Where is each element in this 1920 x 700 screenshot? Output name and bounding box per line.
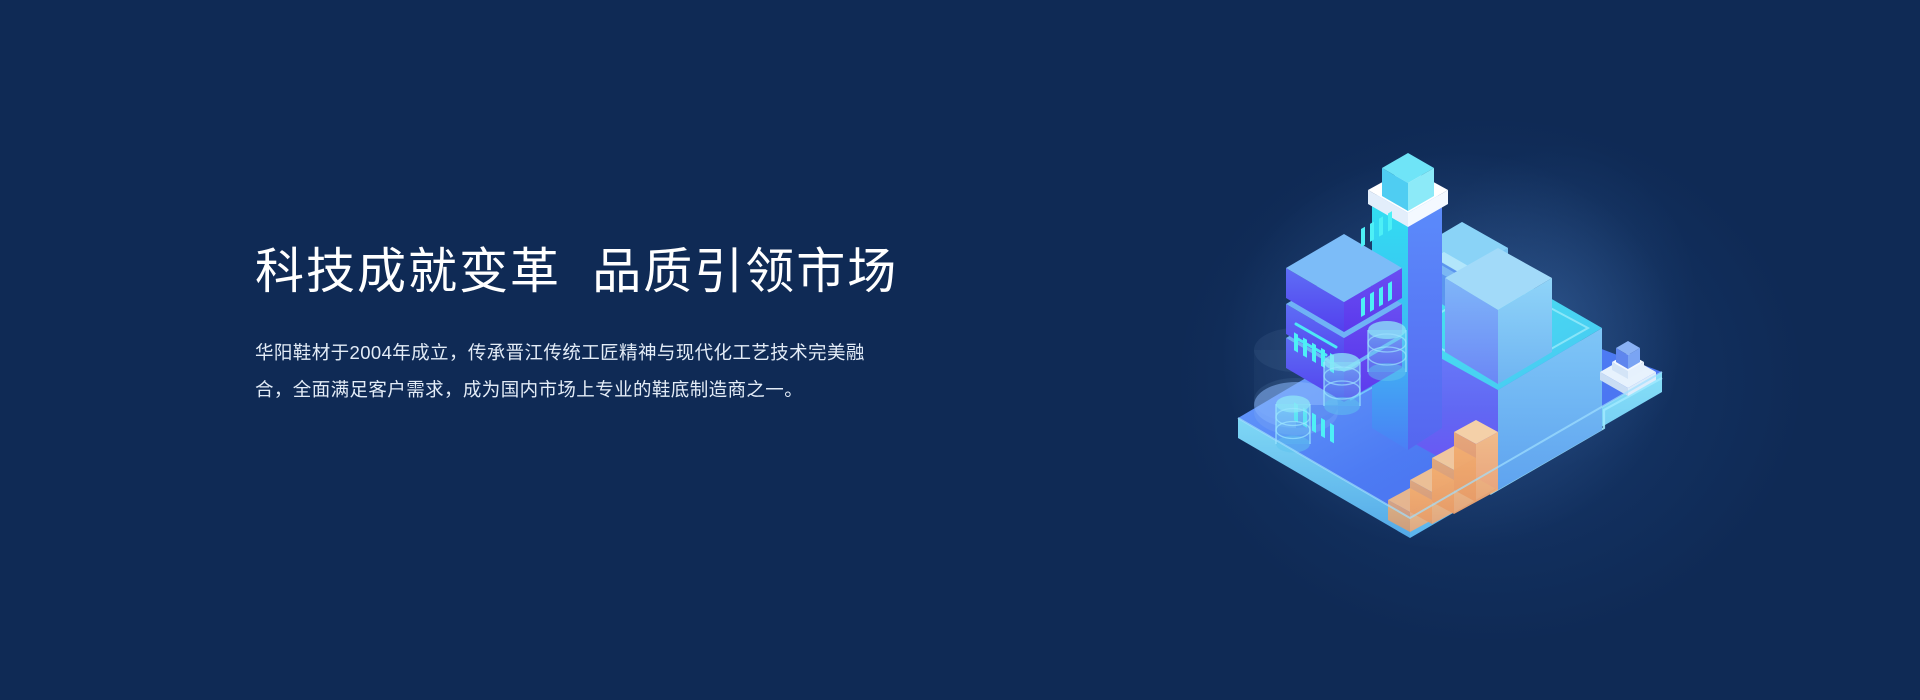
hero-text-block: 科技成就变革 品质引领市场 华阳鞋材于2004年成立，传承晋江传统工匠精神与现代… [255,245,955,408]
isometric-factory-illustration [1200,100,1700,550]
hero-description: 华阳鞋材于2004年成立，传承晋江传统工匠精神与现代化工艺技术完美融合，全面满足… [255,334,875,408]
page-title: 科技成就变革 品质引领市场 [255,245,955,300]
hero-banner: 科技成就变革 品质引领市场 华阳鞋材于2004年成立，传承晋江传统工匠精神与现代… [0,0,1920,700]
